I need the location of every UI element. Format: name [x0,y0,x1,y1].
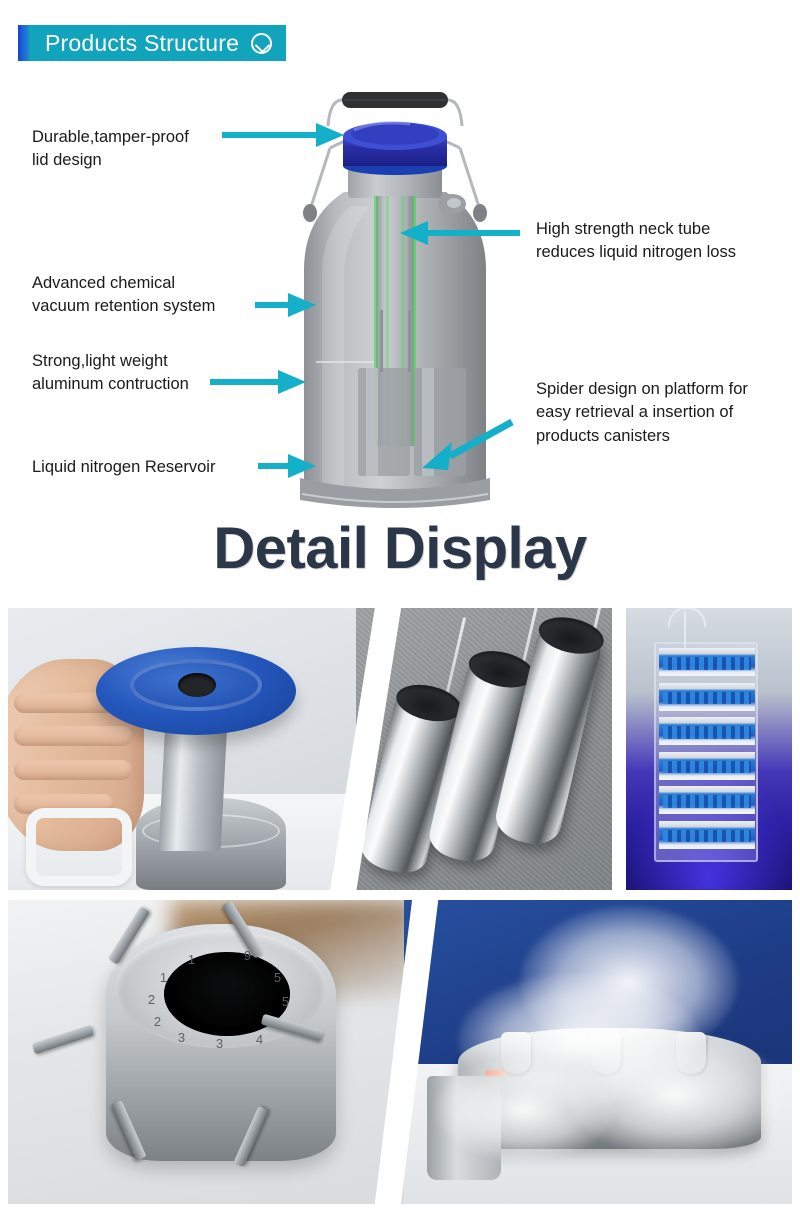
position-number: 2 [148,992,155,1007]
position-number: 5 [282,994,289,1009]
cryogenic-tank-illustration [270,70,520,510]
position-number: 4 [256,1032,263,1047]
cryo-box [659,648,755,676]
section-banner: Products Structure [18,25,286,61]
callout-spider: Spider design on platform for easy retri… [536,378,792,448]
chevron-down-circle-icon[interactable] [251,33,272,54]
tank-handle [26,808,132,886]
banner-accent-bar [18,25,29,61]
finger [14,760,132,780]
tank-svg [270,70,520,510]
photo-spider-platform[interactable]: 1 9 1 5 2 5 2 4 3 4 3 [8,900,416,1204]
cryo-box [659,717,755,745]
detail-photo-gallery: 1 9 1 5 2 5 2 4 3 4 3 [8,608,792,1204]
cryo-box [659,683,755,711]
photo-nitrogen-vapor[interactable] [404,900,792,1204]
cryo-box [659,821,755,849]
nitrogen-vapor [435,1058,613,1161]
callout-neck-tube: High strength neck tube reduces liquid n… [536,218,788,265]
position-number: 3 [216,1036,223,1051]
position-number: 1 [188,952,195,967]
position-number: 2 [154,1014,161,1029]
product-structure-page: Products Structure [0,0,800,1212]
structure-diagram: Durable,tamper-proof lid design Advanced… [0,70,800,510]
photo-blue-lid-neck-tube[interactable] [8,608,368,890]
callout-vacuum: Advanced chemical vacuum retention syste… [32,272,262,319]
section-title: Products Structure [45,32,239,55]
blue-lid [96,647,296,735]
callout-lid: Durable,tamper-proof lid design [32,126,247,173]
callout-reservoir: Liquid nitrogen Reservoir [32,456,272,479]
dewar-top: 1 9 1 5 2 5 2 4 3 4 3 [106,924,336,1161]
photo-divider [612,608,624,890]
gallery-row-2: 1 9 1 5 2 5 2 4 3 4 3 [8,900,792,1204]
photo-blue-cryo-box-rack[interactable] [626,608,792,890]
neck-tube [159,721,228,851]
detail-display-title: Detail Display [0,515,800,582]
gallery-row-1 [8,608,792,890]
cryo-box [659,752,755,780]
callout-aluminum: Strong,light weight aluminum contruction [32,350,232,397]
cryo-box-rack [654,642,758,862]
position-number: 1 [160,970,167,985]
photo-steel-canisters[interactable] [356,608,618,890]
cryo-box [659,786,755,814]
position-number: 3 [178,1030,185,1045]
position-number: 5 [274,970,281,985]
finger [14,726,132,746]
